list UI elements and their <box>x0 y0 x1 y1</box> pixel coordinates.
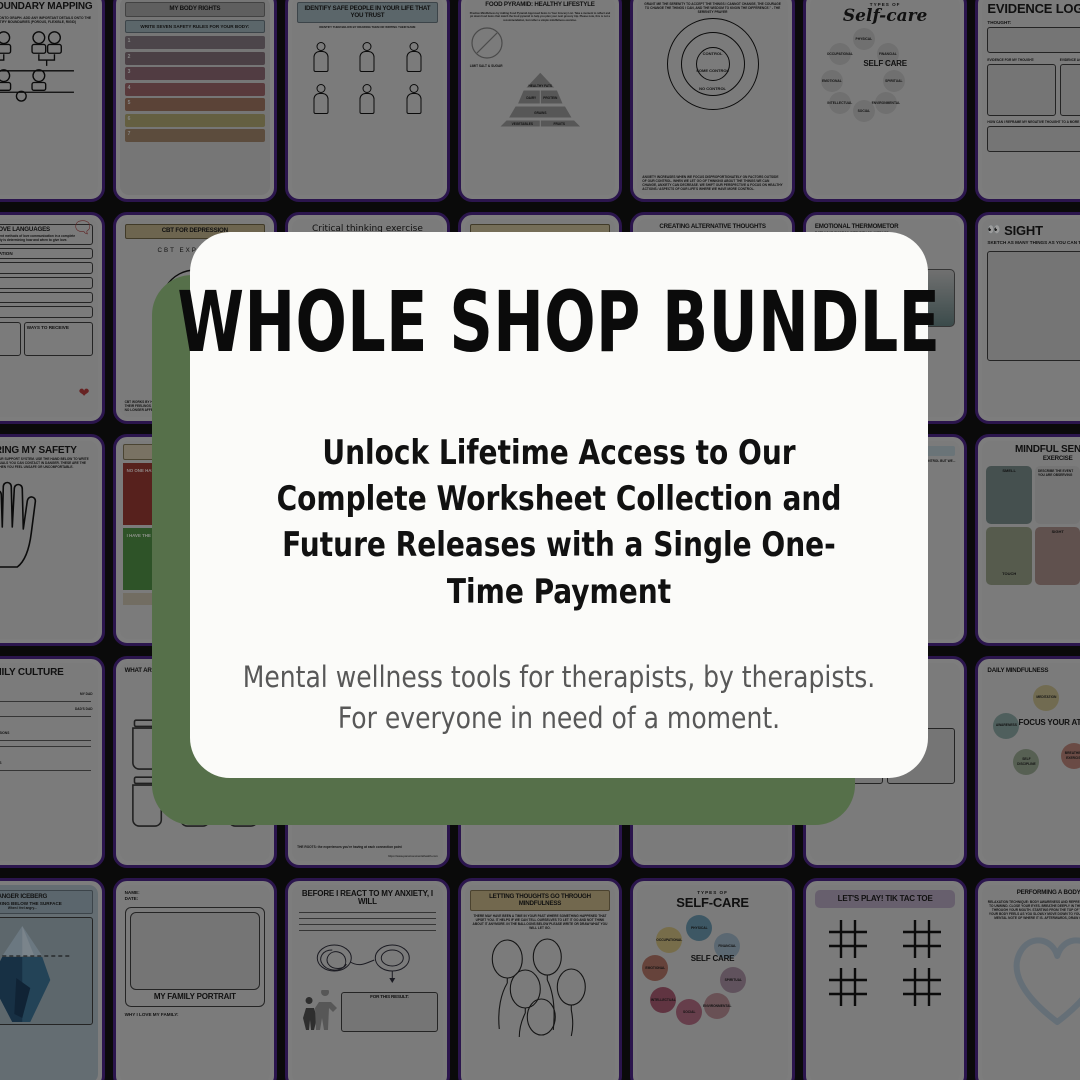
mindfulness-center-label: FOCUS YOUR ATTENTION <box>1017 719 1080 727</box>
person-icon <box>313 42 329 72</box>
worksheet-thumbnail[interactable]: ENSURING MY SAFETY SAFETY NET: IDENTIFYI… <box>0 434 105 646</box>
self-care-node: PHYSICAL <box>686 915 712 941</box>
worksheet-field-label: EVIDENCE FOR MY THOUGHT: <box>987 58 1055 62</box>
tic-tac-toe-grid-icon[interactable] <box>827 918 869 960</box>
ring-label: CONTROL <box>637 51 788 56</box>
heart-icon: ❤ <box>79 385 90 401</box>
tic-tac-toe-grid-icon[interactable] <box>827 966 869 1008</box>
worksheet-subtitle: IDENTIFY THEM BELOW BY DRAWING THEM OR W… <box>297 26 438 30</box>
person-icon <box>313 84 329 114</box>
worksheet-footer: ANXIETY INCREASES WHEN WE FOCUS DISPROPO… <box>642 175 783 191</box>
self-care-node: ENVIRONMENTAL <box>704 993 730 1019</box>
worksheet-thumbnail[interactable]: BEFORE I REACT TO MY ANXIETY, I WILL <box>285 878 450 1080</box>
worksheet-title: FOOD PYRAMID: HEALTHY LIFESTYLE <box>470 2 611 9</box>
sketch-area[interactable] <box>987 251 1080 361</box>
worksheet-title: FAMILY CULTURE <box>0 668 93 679</box>
tic-tac-toe-grid-icon[interactable] <box>901 918 943 960</box>
svg-text:VEGETABLES: VEGETABLES <box>511 122 532 126</box>
worksheet-title: ENSURING MY SAFETY <box>0 446 93 457</box>
worksheet-row: 3 <box>125 67 266 80</box>
worksheet-title: SIGHT <box>1004 224 1043 238</box>
worksheet-thumbnail[interactable]: LOVE LANGUAGES Love languages are the di… <box>0 212 105 424</box>
worksheet-title: DAILY MINDFULNESS <box>987 668 1080 675</box>
ring-label: NO CONTROL <box>637 86 788 91</box>
ring-label: SOME CONTROL <box>637 68 788 73</box>
worksheet-thumbnail[interactable]: LETTING THOUGHTS GO THROUGH MINDFULNESS … <box>458 878 623 1080</box>
love-language-item: ACTS OF SERVICE <box>0 265 90 271</box>
self-care-node: ENVIRONMENTAL <box>875 92 897 114</box>
worksheet-thumbnail[interactable]: DAILY MINDFULNESS MEDITATION AWARENESS S… <box>975 656 1080 868</box>
worksheet-title: SELF-CARE <box>642 896 783 910</box>
promo-headline: WHOLE SHOP BUNDLE <box>178 280 941 364</box>
food-pyramid-icon: HEALTHY FATS DAIRY PROTEIN GRAINS VEGETA… <box>470 70 611 128</box>
worksheet-thumbnail[interactable]: TYPES OF SELF-CARE PHYSICAL FINANCIAL SP… <box>630 878 795 1080</box>
worksheet-subtitle: MAP ALL FAMILY MEMBERS ONTO GRAPH. ADD A… <box>0 16 93 25</box>
worksheet-row: 1 <box>125 36 266 49</box>
self-care-center-label: SELF CARE <box>666 955 759 963</box>
love-language-item: WORDS OF AFFIRMATION <box>0 251 90 257</box>
worksheet-title: PERFORMING A BODY SCAN <box>987 890 1080 897</box>
worksheet-thumbnail[interactable]: FAMILY CULTURE WHERE WE WERE BORN MY MOM… <box>0 656 105 868</box>
column-header: WAYS TO RECEIVE <box>27 325 90 331</box>
mindfulness-node: BREATHING EXERCISE <box>1061 743 1080 769</box>
iceberg-area <box>0 917 93 1025</box>
worksheet-thumbnail[interactable]: ANGER ICEBERG EXPLORING BELOW THE SURFAC… <box>0 878 105 1080</box>
worksheet-thumbnail[interactable]: FAMILY BOUNDARY MAPPING MAP ALL FAMILY M… <box>0 0 105 202</box>
worksheet-subtitle: THERE MAY HAVE BEEN A TIME IN YOUR PAST … <box>470 914 611 930</box>
promo-card: WHOLE SHOP BUNDLE Unlock Lifetime Access… <box>190 232 928 778</box>
hand-outline-icon <box>0 473 93 569</box>
circle-of-control-icon <box>667 18 759 110</box>
mindfulness-node: AWARENESS <box>993 713 1019 739</box>
worksheet-field-label: DAD'S DAD <box>75 707 93 711</box>
worksheet-row: 6 <box>125 114 266 127</box>
worksheet-field-label: WHERE WE WERE BORN <box>0 682 93 686</box>
svg-text:FRUITS: FRUITS <box>553 122 565 126</box>
worksheet-title: CREATING ALTERNATIVE THOUGHTS <box>642 224 783 231</box>
worksheet-footer: WHY I LOVE MY FAMILY: <box>125 1012 266 1018</box>
worksheet-title: EVIDENCE LOG <box>987 2 1080 16</box>
worksheet-title: LETTING THOUGHTS GO THROUGH MINDFULNESS <box>473 894 608 907</box>
worksheet-field-label: HOW CAN I REFRAME MY NEGATIVE THOUGHT TO… <box>987 120 1080 124</box>
mindfulness-node: SELF DISCIPLINE <box>1013 749 1039 775</box>
scribble-thought-icon <box>297 940 438 986</box>
worksheet-title: MY FAMILY PORTRAIT <box>130 993 261 1001</box>
self-care-node: INTELLECTUAL <box>829 92 851 114</box>
worksheet-title: FAMILY BOUNDARY MAPPING <box>0 2 93 13</box>
worksheet-field-label: DATE: <box>125 896 266 902</box>
worksheet-subtitle: RELAXATION TECHNIQUE: BODY AWARENESS AND… <box>987 900 1080 920</box>
worksheet-title: MINDFUL SENSES <box>986 445 1080 456</box>
promo-tagline: Mental wellness tools for therapists, by… <box>242 657 876 739</box>
worksheet-subtitle: SAFETY NET: IDENTIFYING YOUR SUPPORT SYS… <box>0 457 93 469</box>
person-icon <box>359 42 375 72</box>
worksheet-quote: GRANT ME THE SERENITY TO ACCEPT THE THIN… <box>642 2 783 14</box>
worksheet-note: LIMIT SALT & SUGAR <box>470 64 611 68</box>
worksheet-title: BEFORE I REACT TO MY ANXIETY, I WILL <box>297 890 438 907</box>
worksheet-field-box[interactable] <box>987 27 1080 53</box>
promo-subheadline: Unlock Lifetime Access to Our Complete W… <box>247 430 870 615</box>
svg-text:DAIRY: DAIRY <box>526 96 537 100</box>
eyes-icon: 👀 <box>987 224 1001 238</box>
love-language-item: PHYSICAL TOUCH <box>0 280 90 286</box>
worksheet-thumbnail[interactable]: TYPES OF Self-care PHYSICAL FINANCIAL SP… <box>803 0 968 202</box>
svg-text:HEALTHY FATS: HEALTHY FATS <box>528 84 552 88</box>
love-language-item: RECEIVING GIFTS <box>0 309 90 315</box>
worksheet-thumbnail[interactable]: NAME: DATE: MY FAMILY PORTRAIT WHY I LOV… <box>113 878 278 1080</box>
self-care-node: SPIRITUAL <box>720 967 746 993</box>
worksheet-section: RECOGNIZING SPECIAL OCCASIONS <box>0 731 93 735</box>
worksheet-title: Self-care <box>815 8 956 25</box>
tic-tac-toe-grid-icon[interactable] <box>901 966 943 1008</box>
result-box-label: FOR THIS RESULT: <box>344 995 435 1000</box>
self-care-node: EMOTIONAL <box>642 955 668 981</box>
worksheet-subtitle: SKETCH AS MANY THINGS AS YOU CAN THAT YO… <box>987 240 1080 246</box>
iceberg-icon <box>0 918 92 1025</box>
self-care-node: EMOTIONAL <box>821 70 843 92</box>
worksheet-thumbnail[interactable]: MINDFUL SENSES EXERCISE SMELL DESCRIBE T… <box>975 434 1080 646</box>
worksheet-thumbnail[interactable]: EVIDENCE LOG THOUGHT: EVIDENCE FOR MY TH… <box>975 0 1080 202</box>
mindfulness-node: MEDITATION <box>1033 685 1059 711</box>
speech-bubble-icon: 🗨 <box>72 219 94 238</box>
worksheet-field-box[interactable] <box>987 64 1055 116</box>
balloons-icon <box>470 933 611 1037</box>
no-salt-icon <box>470 26 504 60</box>
svg-text:PROTEIN: PROTEIN <box>543 96 558 100</box>
worksheet-row: 5 <box>125 98 266 111</box>
worksheet-thumbnail[interactable]: PERFORMING A BODY SCAN RELAXATION TECHNI… <box>975 878 1080 1080</box>
worksheet-thumbnail[interactable]: MY BODY RIGHTS WRITE SEVEN SAFETY RULES … <box>113 0 278 202</box>
worksheet-banner: WRITE SEVEN SAFETY RULES FOR YOUR BODY: <box>128 24 263 30</box>
worksheet-note: When I feel angry... <box>0 906 90 910</box>
sense-box: SMELL <box>986 466 1032 524</box>
worksheet-row: 4 <box>125 83 266 96</box>
worksheet-thumbnail[interactable]: 👀 SIGHT SKETCH AS MANY THINGS AS YOU CAN… <box>975 212 1080 424</box>
superhero-icon <box>297 990 337 1032</box>
worksheet-title: MY BODY RIGHTS <box>128 6 263 13</box>
worksheet-thumbnail[interactable]: FOOD PYRAMID: HEALTHY LIFESTYLE Practice… <box>458 0 623 202</box>
svg-text:GRAINS: GRAINS <box>534 111 546 115</box>
worksheet-field-label: EVIDENCE AGAINST MY THOUGHT: <box>1060 58 1080 62</box>
worksheet-thumbnail[interactable]: IDENTIFY SAFE PEOPLE IN YOUR LIFE THAT Y… <box>285 0 450 202</box>
worksheet-field-box[interactable] <box>1060 64 1080 116</box>
sense-prompt: DESCRIBE THE EVENT YOU ARE OBSERVING <box>1035 466 1080 524</box>
sense-box: TOUCH <box>986 527 1032 585</box>
self-care-node: PHYSICAL <box>853 28 875 50</box>
portrait-draw-area[interactable] <box>130 912 261 990</box>
worksheet-footer: THE ROOTS: the experiences you're having… <box>297 845 402 849</box>
column-header: WAYS TO EXPRESS <box>0 325 18 331</box>
love-language-item: QUALITY TIME <box>0 295 90 301</box>
self-care-node: SPIRITUAL <box>883 70 905 92</box>
worksheet-thumbnail[interactable]: GRANT ME THE SERENITY TO ACCEPT THE THIN… <box>630 0 795 202</box>
worksheet-subtitle: EXERCISE <box>986 456 1080 463</box>
worksheet-field-label: THOUGHT: <box>987 20 1080 26</box>
person-icon <box>406 42 422 72</box>
self-care-node: SOCIAL <box>853 100 875 122</box>
person-icon <box>359 84 375 114</box>
heart-outline-icon <box>987 926 1080 1030</box>
self-care-node: SOCIAL <box>676 999 702 1025</box>
self-care-node: OCCUPATIONAL <box>656 927 682 953</box>
worksheet-section: RELIGIOUS/SPIRITUAL BELIEFS <box>0 761 93 765</box>
family-tree-icon <box>0 24 93 102</box>
worksheet-title: LET'S PLAY! TIK TAC TOE <box>817 895 954 903</box>
worksheet-watermark: https://www.paraciousmentalhealth.com <box>388 855 438 858</box>
self-care-center-label: SELF CARE <box>815 60 956 68</box>
bundle-promo-image: FAMILY BOUNDARY MAPPING MAP ALL FAMILY M… <box>0 0 1080 1080</box>
worksheet-field-label: MY DAD <box>80 692 93 696</box>
worksheet-row: 7 <box>125 129 266 142</box>
worksheet-field-box[interactable] <box>987 126 1080 152</box>
worksheet-subtitle: Practice Mindfulness by Adding Food Pyra… <box>470 12 611 23</box>
person-icon <box>406 84 422 114</box>
worksheet-thumbnail[interactable]: LET'S PLAY! TIK TAC TOE <box>803 878 968 1080</box>
self-care-node: INTELLECTUAL <box>650 987 676 1013</box>
worksheet-title: IDENTIFY SAFE PEOPLE IN YOUR LIFE THAT Y… <box>300 6 435 19</box>
worksheet-row: 2 <box>125 52 266 65</box>
sense-box: SIGHT <box>1035 527 1080 585</box>
